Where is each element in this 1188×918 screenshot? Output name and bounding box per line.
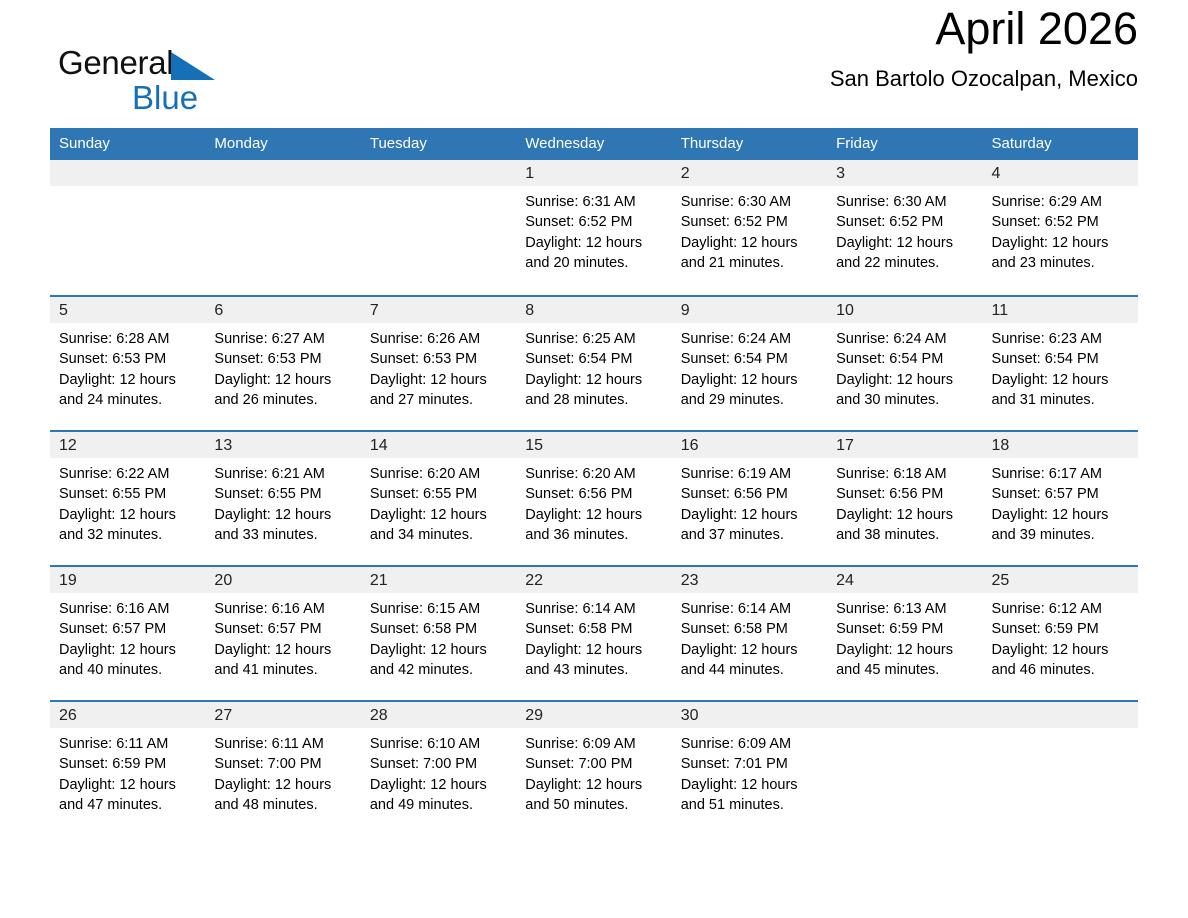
calendar-day-cell[interactable]: 12Sunrise: 6:22 AM Sunset: 6:55 PM Dayli… — [50, 430, 205, 565]
calendar-day-cell[interactable]: 13Sunrise: 6:21 AM Sunset: 6:55 PM Dayli… — [205, 430, 360, 565]
calendar-day-cell[interactable]: 16Sunrise: 6:19 AM Sunset: 6:56 PM Dayli… — [672, 430, 827, 565]
calendar-day-cell[interactable]: 19Sunrise: 6:16 AM Sunset: 6:57 PM Dayli… — [50, 565, 205, 700]
day-number: 12 — [50, 432, 205, 458]
day-number: 25 — [983, 567, 1138, 593]
calendar-day-cell[interactable]: 1Sunrise: 6:31 AM Sunset: 6:52 PM Daylig… — [516, 160, 671, 295]
day-number: 11 — [983, 297, 1138, 323]
calendar-day-cell[interactable]: 7Sunrise: 6:26 AM Sunset: 6:53 PM Daylig… — [361, 295, 516, 430]
day-number: 9 — [672, 297, 827, 323]
day-number: 10 — [827, 297, 982, 323]
calendar-day-cell[interactable]: 25Sunrise: 6:12 AM Sunset: 6:59 PM Dayli… — [983, 565, 1138, 700]
calendar-day-cell[interactable]: 6Sunrise: 6:27 AM Sunset: 6:53 PM Daylig… — [205, 295, 360, 430]
day-number: 30 — [672, 702, 827, 728]
day-number — [827, 702, 982, 728]
calendar-day-cell[interactable]: 23Sunrise: 6:14 AM Sunset: 6:58 PM Dayli… — [672, 565, 827, 700]
calendar-day-cell-empty — [50, 160, 205, 295]
day-sun-details: Sunrise: 6:20 AM Sunset: 6:55 PM Dayligh… — [361, 458, 516, 546]
day-sun-details: Sunrise: 6:24 AM Sunset: 6:54 PM Dayligh… — [827, 323, 982, 411]
day-number: 5 — [50, 297, 205, 323]
logo-text-general: General — [58, 46, 173, 79]
day-number: 26 — [50, 702, 205, 728]
calendar-week-row: 12Sunrise: 6:22 AM Sunset: 6:55 PM Dayli… — [50, 430, 1138, 565]
calendar-week-row: 26Sunrise: 6:11 AM Sunset: 6:59 PM Dayli… — [50, 700, 1138, 820]
day-number: 13 — [205, 432, 360, 458]
page-header: General Blue April 2026 San Bartolo Ozoc… — [50, 0, 1138, 110]
calendar-day-cell[interactable]: 15Sunrise: 6:20 AM Sunset: 6:56 PM Dayli… — [516, 430, 671, 565]
calendar-day-cell-empty — [983, 700, 1138, 820]
calendar-day-cell[interactable]: 2Sunrise: 6:30 AM Sunset: 6:52 PM Daylig… — [672, 160, 827, 295]
day-sun-details: Sunrise: 6:17 AM Sunset: 6:57 PM Dayligh… — [983, 458, 1138, 546]
calendar-day-cell[interactable]: 30Sunrise: 6:09 AM Sunset: 7:01 PM Dayli… — [672, 700, 827, 820]
calendar-day-cell[interactable]: 11Sunrise: 6:23 AM Sunset: 6:54 PM Dayli… — [983, 295, 1138, 430]
calendar-day-cell[interactable]: 10Sunrise: 6:24 AM Sunset: 6:54 PM Dayli… — [827, 295, 982, 430]
day-sun-details: Sunrise: 6:09 AM Sunset: 7:01 PM Dayligh… — [672, 728, 827, 816]
day-number: 22 — [516, 567, 671, 593]
day-number — [205, 160, 360, 186]
day-number: 28 — [361, 702, 516, 728]
day-sun-details: Sunrise: 6:09 AM Sunset: 7:00 PM Dayligh… — [516, 728, 671, 816]
day-number: 16 — [672, 432, 827, 458]
sunrise-sunset-calendar-table: Sunday Monday Tuesday Wednesday Thursday… — [50, 128, 1138, 820]
day-number: 1 — [516, 160, 671, 186]
day-number: 19 — [50, 567, 205, 593]
weekday-header-friday: Friday — [827, 128, 982, 160]
calendar-day-cell[interactable]: 4Sunrise: 6:29 AM Sunset: 6:52 PM Daylig… — [983, 160, 1138, 295]
calendar-week-row: 19Sunrise: 6:16 AM Sunset: 6:57 PM Dayli… — [50, 565, 1138, 700]
day-sun-details: Sunrise: 6:23 AM Sunset: 6:54 PM Dayligh… — [983, 323, 1138, 411]
day-sun-details: Sunrise: 6:14 AM Sunset: 6:58 PM Dayligh… — [672, 593, 827, 681]
day-sun-details: Sunrise: 6:21 AM Sunset: 6:55 PM Dayligh… — [205, 458, 360, 546]
calendar-day-cell-empty — [827, 700, 982, 820]
weekday-header-sunday: Sunday — [50, 128, 205, 160]
calendar-day-cell[interactable]: 3Sunrise: 6:30 AM Sunset: 6:52 PM Daylig… — [827, 160, 982, 295]
calendar-day-cell[interactable]: 17Sunrise: 6:18 AM Sunset: 6:56 PM Dayli… — [827, 430, 982, 565]
day-number: 3 — [827, 160, 982, 186]
day-number: 18 — [983, 432, 1138, 458]
calendar-day-cell[interactable]: 24Sunrise: 6:13 AM Sunset: 6:59 PM Dayli… — [827, 565, 982, 700]
day-number: 2 — [672, 160, 827, 186]
day-number: 21 — [361, 567, 516, 593]
weekday-header-wednesday: Wednesday — [516, 128, 671, 160]
location-subtitle: San Bartolo Ozocalpan, Mexico — [830, 66, 1138, 92]
calendar-day-cell[interactable]: 29Sunrise: 6:09 AM Sunset: 7:00 PM Dayli… — [516, 700, 671, 820]
day-sun-details: Sunrise: 6:28 AM Sunset: 6:53 PM Dayligh… — [50, 323, 205, 411]
day-sun-details: Sunrise: 6:11 AM Sunset: 7:00 PM Dayligh… — [205, 728, 360, 816]
calendar-day-cell[interactable]: 28Sunrise: 6:10 AM Sunset: 7:00 PM Dayli… — [361, 700, 516, 820]
calendar-week-row: 1Sunrise: 6:31 AM Sunset: 6:52 PM Daylig… — [50, 160, 1138, 295]
day-sun-details: Sunrise: 6:10 AM Sunset: 7:00 PM Dayligh… — [361, 728, 516, 816]
day-sun-details: Sunrise: 6:16 AM Sunset: 6:57 PM Dayligh… — [205, 593, 360, 681]
day-sun-details: Sunrise: 6:30 AM Sunset: 6:52 PM Dayligh… — [827, 186, 982, 274]
weekday-header-row: Sunday Monday Tuesday Wednesday Thursday… — [50, 128, 1138, 160]
day-sun-details: Sunrise: 6:14 AM Sunset: 6:58 PM Dayligh… — [516, 593, 671, 681]
calendar-day-cell[interactable]: 21Sunrise: 6:15 AM Sunset: 6:58 PM Dayli… — [361, 565, 516, 700]
day-number: 4 — [983, 160, 1138, 186]
day-sun-details: Sunrise: 6:11 AM Sunset: 6:59 PM Dayligh… — [50, 728, 205, 816]
day-number: 7 — [361, 297, 516, 323]
weekday-header-thursday: Thursday — [672, 128, 827, 160]
calendar-week-row: 5Sunrise: 6:28 AM Sunset: 6:53 PM Daylig… — [50, 295, 1138, 430]
day-number: 29 — [516, 702, 671, 728]
day-number — [983, 702, 1138, 728]
calendar-day-cell[interactable]: 9Sunrise: 6:24 AM Sunset: 6:54 PM Daylig… — [672, 295, 827, 430]
calendar-day-cell[interactable]: 18Sunrise: 6:17 AM Sunset: 6:57 PM Dayli… — [983, 430, 1138, 565]
day-number: 20 — [205, 567, 360, 593]
day-number: 24 — [827, 567, 982, 593]
day-sun-details: Sunrise: 6:29 AM Sunset: 6:52 PM Dayligh… — [983, 186, 1138, 274]
day-number: 17 — [827, 432, 982, 458]
calendar-day-cell[interactable]: 14Sunrise: 6:20 AM Sunset: 6:55 PM Dayli… — [361, 430, 516, 565]
day-sun-details: Sunrise: 6:18 AM Sunset: 6:56 PM Dayligh… — [827, 458, 982, 546]
day-number: 8 — [516, 297, 671, 323]
calendar-body: 1Sunrise: 6:31 AM Sunset: 6:52 PM Daylig… — [50, 160, 1138, 820]
day-sun-details: Sunrise: 6:30 AM Sunset: 6:52 PM Dayligh… — [672, 186, 827, 274]
generalblue-logo[interactable]: General Blue — [58, 46, 358, 126]
day-number: 27 — [205, 702, 360, 728]
day-sun-details: Sunrise: 6:16 AM Sunset: 6:57 PM Dayligh… — [50, 593, 205, 681]
day-sun-details: Sunrise: 6:22 AM Sunset: 6:55 PM Dayligh… — [50, 458, 205, 546]
page-title: April 2026 — [935, 4, 1138, 54]
calendar-day-cell-empty — [361, 160, 516, 295]
day-number: 14 — [361, 432, 516, 458]
day-sun-details: Sunrise: 6:27 AM Sunset: 6:53 PM Dayligh… — [205, 323, 360, 411]
calendar-day-cell[interactable]: 8Sunrise: 6:25 AM Sunset: 6:54 PM Daylig… — [516, 295, 671, 430]
calendar-day-cell-empty — [205, 160, 360, 295]
calendar-day-cell[interactable]: 5Sunrise: 6:28 AM Sunset: 6:53 PM Daylig… — [50, 295, 205, 430]
day-sun-details: Sunrise: 6:15 AM Sunset: 6:58 PM Dayligh… — [361, 593, 516, 681]
day-sun-details: Sunrise: 6:26 AM Sunset: 6:53 PM Dayligh… — [361, 323, 516, 411]
day-number: 6 — [205, 297, 360, 323]
day-sun-details: Sunrise: 6:31 AM Sunset: 6:52 PM Dayligh… — [516, 186, 671, 274]
day-sun-details: Sunrise: 6:12 AM Sunset: 6:59 PM Dayligh… — [983, 593, 1138, 681]
logo-text-blue: Blue — [132, 81, 358, 114]
day-sun-details: Sunrise: 6:24 AM Sunset: 6:54 PM Dayligh… — [672, 323, 827, 411]
calendar-day-cell[interactable]: 22Sunrise: 6:14 AM Sunset: 6:58 PM Dayli… — [516, 565, 671, 700]
calendar-page: General Blue April 2026 San Bartolo Ozoc… — [0, 0, 1188, 918]
day-sun-details: Sunrise: 6:20 AM Sunset: 6:56 PM Dayligh… — [516, 458, 671, 546]
day-number — [50, 160, 205, 186]
weekday-header-tuesday: Tuesday — [361, 128, 516, 160]
calendar-day-cell[interactable]: 20Sunrise: 6:16 AM Sunset: 6:57 PM Dayli… — [205, 565, 360, 700]
day-number: 23 — [672, 567, 827, 593]
weekday-header-monday: Monday — [205, 128, 360, 160]
calendar-day-cell[interactable]: 26Sunrise: 6:11 AM Sunset: 6:59 PM Dayli… — [50, 700, 205, 820]
day-sun-details: Sunrise: 6:13 AM Sunset: 6:59 PM Dayligh… — [827, 593, 982, 681]
day-number — [361, 160, 516, 186]
calendar-day-cell[interactable]: 27Sunrise: 6:11 AM Sunset: 7:00 PM Dayli… — [205, 700, 360, 820]
weekday-header-saturday: Saturday — [983, 128, 1138, 160]
day-number: 15 — [516, 432, 671, 458]
day-sun-details: Sunrise: 6:19 AM Sunset: 6:56 PM Dayligh… — [672, 458, 827, 546]
day-sun-details: Sunrise: 6:25 AM Sunset: 6:54 PM Dayligh… — [516, 323, 671, 411]
